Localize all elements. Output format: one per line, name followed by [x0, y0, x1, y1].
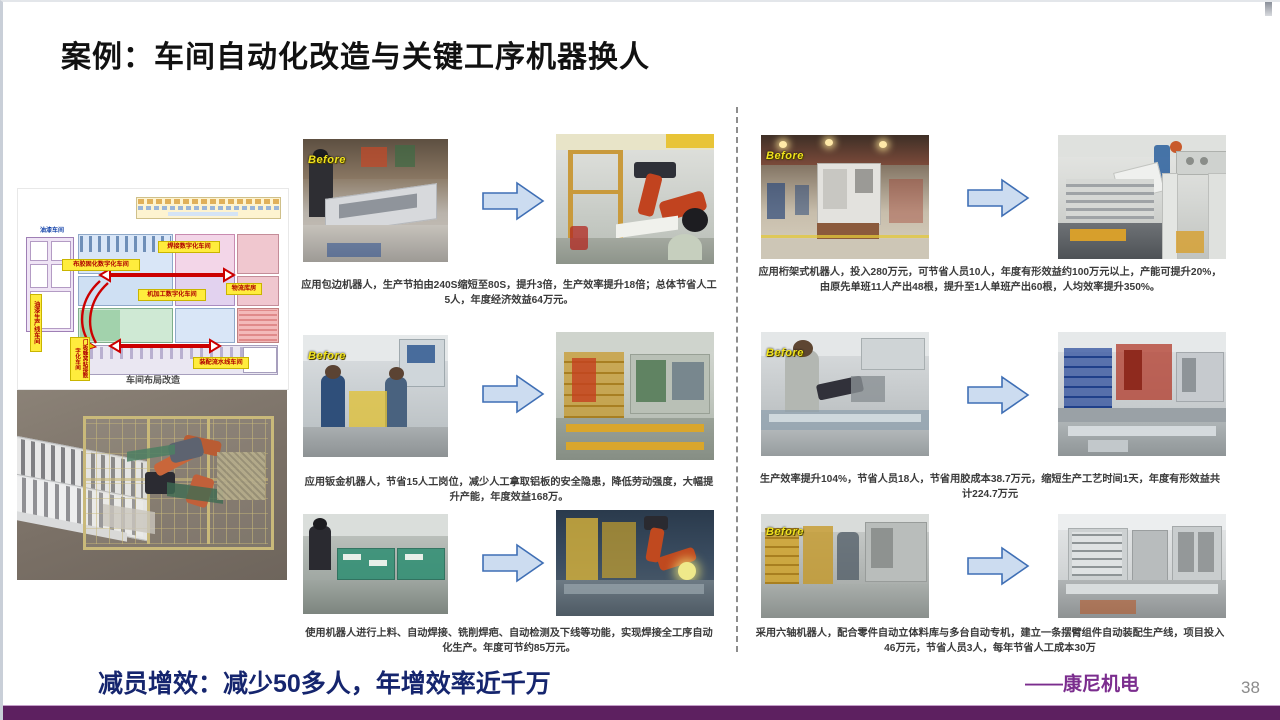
caption-left-row2: 应用钣金机器人，节省15人工岗位，减少人工拿取铝板的安全隐患，降低劳动强度，大幅… [301, 475, 717, 505]
before-badge-right-3: Before [766, 526, 804, 538]
transform-arrow-right-3 [966, 545, 1030, 587]
before-badge-right-2: Before [766, 347, 804, 359]
layout-tag-6: 门板蜂窝粘接数字化车间 [70, 337, 90, 381]
layout-tag-5: 物流库房 [226, 283, 262, 295]
page-title: 案例：车间自动化改造与关键工序机器换人 [61, 32, 650, 76]
summary-banner: 减员增效：减少50多人，年增效率近千万 [98, 664, 551, 700]
photo-right-row3-before: Before [761, 514, 929, 618]
photo-right-row2-after [1058, 332, 1226, 456]
layout-tag-2: 布胶固化数字化车间 [62, 259, 140, 271]
before-badge-left-1: Before [308, 154, 346, 166]
photo-left-row1-before: Before [303, 139, 448, 262]
photo-right-row1-before: Before [761, 135, 929, 259]
transform-arrow-right-1 [966, 177, 1030, 219]
layout-tag-1: 油漆生产线车间 [30, 294, 42, 352]
caption-right-row3: 采用六轴机器人，配合零件自动立体料库与多台自动专机，建立一条摆臂组件自动装配生产… [755, 626, 1225, 656]
photo-right-row1-after [1058, 135, 1226, 259]
column-divider [736, 107, 738, 652]
layout-tag-3: 焊接数字化车间 [158, 241, 220, 253]
page-number: 38 [1241, 678, 1260, 698]
photo-left-row2-after [556, 332, 714, 460]
photo-left-row1-after [556, 134, 714, 264]
layout-tag-0: 油漆车间 [30, 227, 74, 236]
caption-right-row1: 应用桁架式机器人，投入280万元，可节省人员10人，年度有形效益约100万元以上… [755, 265, 1225, 295]
caption-left-row1: 应用包边机器人，生产节拍由240S缩短至80S，提升3倍，生产效率提升18倍；总… [301, 278, 717, 308]
transform-arrow-left-2 [481, 373, 545, 415]
photo-left-row2-before: Before [303, 335, 448, 457]
layout-tag-7: 装配流水线车间 [193, 357, 249, 369]
company-signature: ——康尼机电 [1025, 669, 1139, 696]
photo-left-row3-after [556, 510, 714, 616]
transform-arrow-left-1 [481, 180, 545, 222]
photo-left-row3-before [303, 514, 448, 614]
layout-tag-4: 机加工数字化车间 [138, 289, 206, 301]
factory-layout-diagram: 油漆车间 油漆生产线车间 布胶固化数字化车间 焊接数字化车间 机加工数字化车间 … [17, 188, 289, 390]
robot-cell-3d-render [17, 390, 287, 580]
photo-right-row2-before: Before [761, 332, 929, 456]
transform-arrow-right-2 [966, 374, 1030, 416]
corner-mark-decoration [1265, 2, 1272, 16]
layout-diagram-caption: 车间布局改造 [126, 373, 180, 386]
before-badge-left-2: Before [308, 350, 346, 362]
before-badge-right-1: Before [766, 150, 804, 162]
slide-canvas: 案例：车间自动化改造与关键工序机器换人 [0, 0, 1280, 720]
photo-right-row3-after [1058, 514, 1226, 618]
caption-left-row3: 使用机器人进行上料、自动焊接、铣削焊疤、自动检测及下线等功能，实现焊接全工序自动… [301, 626, 717, 656]
caption-right-row2: 生产效率提升104%，节省人员18人，节省用胶成本38.7万元，缩短生产工艺时间… [755, 472, 1225, 502]
bottom-band [3, 706, 1280, 720]
transform-arrow-left-3 [481, 542, 545, 584]
